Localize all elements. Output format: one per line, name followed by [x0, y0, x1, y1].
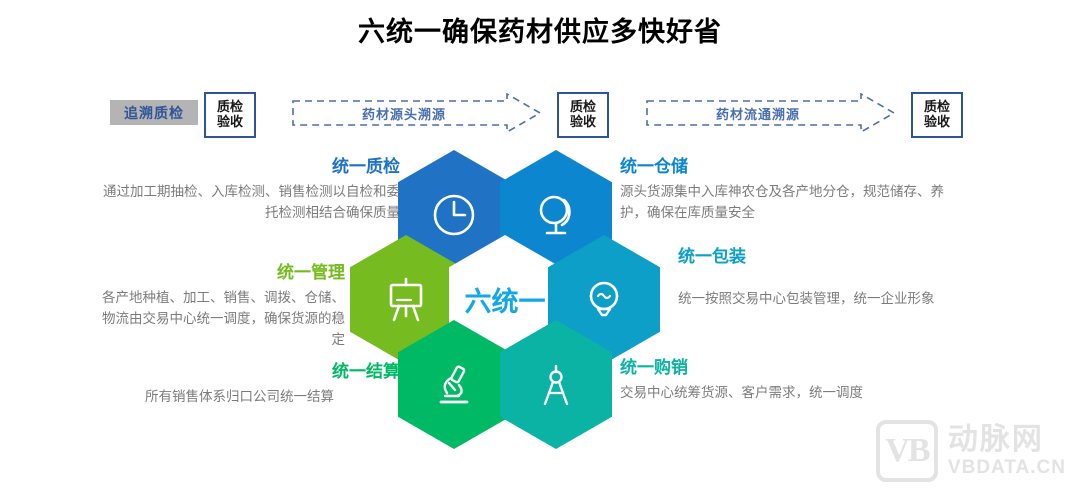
flow-box-line2: 验收 [924, 115, 950, 130]
flow-chip-label: 追溯质检 [124, 103, 184, 123]
globe-icon [531, 190, 581, 240]
callout-description: 所有销售体系归口公司统一结算 [120, 387, 400, 408]
flow-box-inspection-1: 质检 验收 [204, 92, 256, 138]
watermark-en: VBDATA.CN [948, 458, 1066, 477]
flow-arrow-circulation-traceability: 药材流通溯源 [646, 93, 896, 133]
callout-trading: 统一购销 交易中心统筹货源、客户需求，统一调度 [620, 358, 920, 404]
callout-management: 统一管理 各产地种植、加工、销售、调拨、仓储、物流由交易中心统一调度，确保货源的… [95, 263, 345, 351]
callout-description: 通过加工期抽检、入库检测、销售检测以自检和委托检测相结合确保质量 [90, 182, 400, 224]
callout-description: 统一按照交易中心包装管理，统一企业形象 [678, 289, 963, 310]
callout-title: 统一包装 [678, 247, 963, 267]
callout-description: 源头货源集中入库神农仓及各产地分仓，规范储存、养护，确保在库质量安全 [620, 182, 965, 224]
watermark-cn: 动脉网 [948, 425, 1066, 455]
callout-title: 统一结算 [120, 362, 400, 382]
flow-arrow-label: 药材流通溯源 [646, 93, 896, 133]
flow-box-line1: 质检 [924, 100, 950, 115]
flow-chip-traceability: 追溯质检 [110, 100, 198, 125]
callout-description: 交易中心统筹货源、客户需求，统一调度 [620, 383, 920, 404]
traceability-flow-bar: 追溯质检 质检 验收 药材源头溯源 质检 验收 药材流通溯源 质检 验收 [0, 92, 1080, 136]
compass-icon [531, 360, 581, 410]
flow-box-inspection-2: 质检 验收 [557, 92, 609, 138]
callout-title: 统一管理 [95, 263, 345, 283]
microscope-icon [429, 360, 479, 410]
callout-title: 统一购销 [620, 358, 920, 378]
flow-arrow-label: 药材源头溯源 [292, 93, 542, 133]
callout-quality-inspection: 统一质检 通过加工期抽检、入库检测、销售检测以自检和委托检测相结合确保质量 [90, 157, 400, 224]
callout-warehousing: 统一仓储 源头货源集中入库神农仓及各产地分仓，规范储存、养护，确保在库质量安全 [620, 157, 965, 224]
flow-box-inspection-3: 质检 验收 [911, 92, 963, 138]
hexagon-center-label: 六统一 [465, 280, 546, 319]
vb-logo-icon: VB [876, 420, 938, 482]
flow-box-line1: 质检 [217, 100, 243, 115]
flow-box-line2: 验收 [217, 115, 243, 130]
flow-box-line2: 验收 [570, 115, 596, 130]
flow-box-line1: 质检 [570, 100, 596, 115]
callout-description: 各产地种植、加工、销售、调拨、仓储、物流由交易中心统一调度，确保货源的稳定 [95, 288, 345, 351]
callout-packaging: 统一包装 统一按照交易中心包装管理，统一企业形象 [678, 247, 963, 310]
flow-arrow-source-traceability: 药材源头溯源 [292, 93, 542, 133]
easel-icon [380, 274, 432, 326]
watermark: VB 动脉网 VBDATA.CN [876, 420, 1066, 482]
callout-title: 统一质检 [90, 157, 400, 177]
lightbulb-icon [579, 275, 629, 325]
page-title: 六统一确保药材供应多快好省 [0, 10, 1080, 49]
watermark-text: 动脉网 VBDATA.CN [948, 425, 1066, 477]
clock-icon [429, 190, 479, 240]
callout-title: 统一仓储 [620, 157, 965, 177]
callout-settlement: 统一结算 所有销售体系归口公司统一结算 [120, 362, 400, 408]
